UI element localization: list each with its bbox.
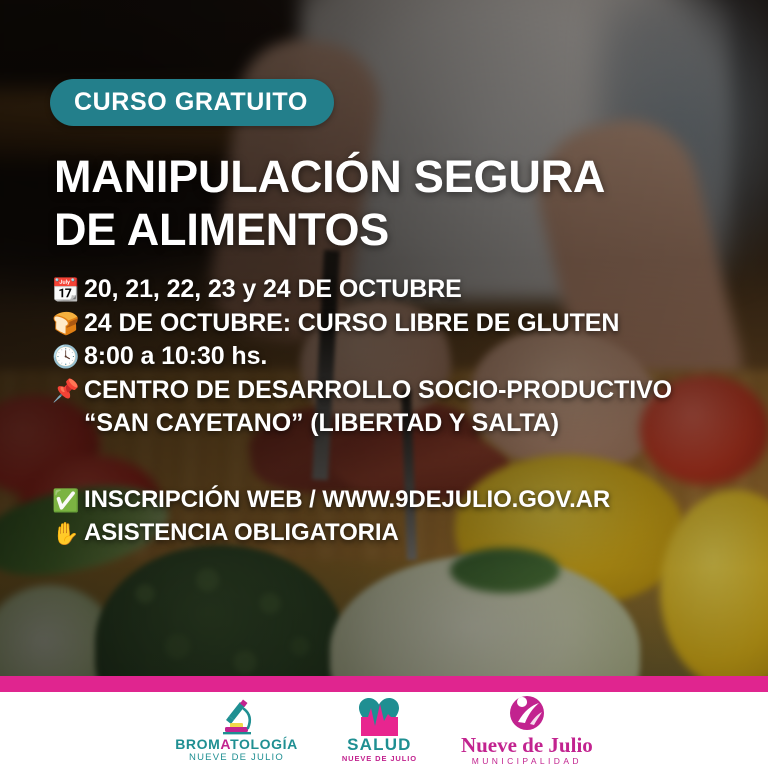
salud-logo: SALUD NUEVE DE JULIO — [342, 696, 417, 763]
footer-logo-bar: BROMATOLOGÍA NUEVE DE JULIO SALUD NUEVE … — [0, 692, 768, 768]
municipalidad-logo-subtitle: MUNICIPALIDAD — [472, 757, 582, 766]
detail-row-venue-address: “SAN CAYETANO” (LIBERTAD Y SALTA) — [52, 407, 752, 441]
bromatologia-name-part1: BROM — [175, 736, 220, 752]
poster-content: CURSO GRATUITO MANIPULACIÓN SEGURA DE AL… — [0, 0, 768, 676]
pushpin-icon: 📌 — [52, 374, 84, 407]
course-details-list: 📆 20, 21, 22, 23 y 24 DE OCTUBRE 🍞 24 DE… — [52, 273, 752, 441]
municipalidad-logo: Nueve de Julio MUNICIPALIDAD — [461, 694, 593, 766]
page-title-line-2: DE ALIMENTOS — [54, 203, 744, 256]
check-mark-icon: ✅ — [52, 484, 84, 517]
bromatologia-name-part3: TOLOGÍA — [230, 736, 298, 752]
detail-row-gluten: 🍞 24 DE OCTUBRE: CURSO LIBRE DE GLUTEN — [52, 307, 752, 341]
free-course-badge-label: CURSO GRATUITO — [74, 88, 308, 117]
bread-icon: 🍞 — [52, 307, 84, 340]
detail-text-attendance: ASISTENCIA OBLIGATORIA — [84, 517, 399, 549]
page-title: MANIPULACIÓN SEGURA DE ALIMENTOS — [54, 150, 744, 256]
detail-text-venue: CENTRO DE DESARROLLO SOCIO-PRODUCTIVO — [84, 374, 672, 408]
bromatologia-logo-name: BROMATOLOGÍA — [175, 737, 298, 752]
calendar-icon: 📆 — [52, 273, 84, 306]
microscope-icon — [213, 697, 261, 737]
salud-logo-name: SALUD — [347, 736, 412, 754]
clock-icon: 🕓 — [52, 340, 84, 373]
registration-details-list: ✅ INSCRIPCIÓN WEB / WWW.9DEJULIO.GOV.AR … — [52, 484, 752, 550]
detail-row-venue: 📌 CENTRO DE DESARROLLO SOCIO-PRODUCTIVO — [52, 374, 752, 408]
detail-text-registration[interactable]: INSCRIPCIÓN WEB / WWW.9DEJULIO.GOV.AR — [84, 484, 610, 516]
magenta-divider-bar — [0, 676, 768, 692]
municipalidad-logo-name: Nueve de Julio — [461, 734, 593, 756]
page-title-line-1: MANIPULACIÓN SEGURA — [54, 150, 744, 203]
bromatologia-logo-subtitle: NUEVE DE JULIO — [189, 753, 284, 763]
poster: CURSO GRATUITO MANIPULACIÓN SEGURA DE AL… — [0, 0, 768, 768]
detail-row-dates: 📆 20, 21, 22, 23 y 24 DE OCTUBRE — [52, 273, 752, 307]
detail-row-registration: ✅ INSCRIPCIÓN WEB / WWW.9DEJULIO.GOV.AR — [52, 484, 752, 517]
heart-heartbeat-icon — [357, 696, 401, 736]
free-course-badge: CURSO GRATUITO — [50, 79, 334, 126]
detail-row-attendance: ✋ ASISTENCIA OBLIGATORIA — [52, 517, 752, 550]
detail-text-dates: 20, 21, 22, 23 y 24 DE OCTUBRE — [84, 273, 462, 307]
bromatologia-name-part2: A — [220, 736, 230, 752]
detail-text-time: 8:00 a 10:30 hs. — [84, 340, 267, 374]
salud-logo-subtitle: NUEVE DE JULIO — [342, 755, 417, 763]
raised-hand-icon: ✋ — [52, 517, 84, 550]
bromatologia-logo: BROMATOLOGÍA NUEVE DE JULIO — [175, 697, 298, 763]
municipal-emblem-icon — [506, 694, 548, 734]
detail-text-gluten: 24 DE OCTUBRE: CURSO LIBRE DE GLUTEN — [84, 307, 619, 341]
detail-row-time: 🕓 8:00 a 10:30 hs. — [52, 340, 752, 374]
detail-text-venue-address: “SAN CAYETANO” (LIBERTAD Y SALTA) — [84, 407, 559, 441]
